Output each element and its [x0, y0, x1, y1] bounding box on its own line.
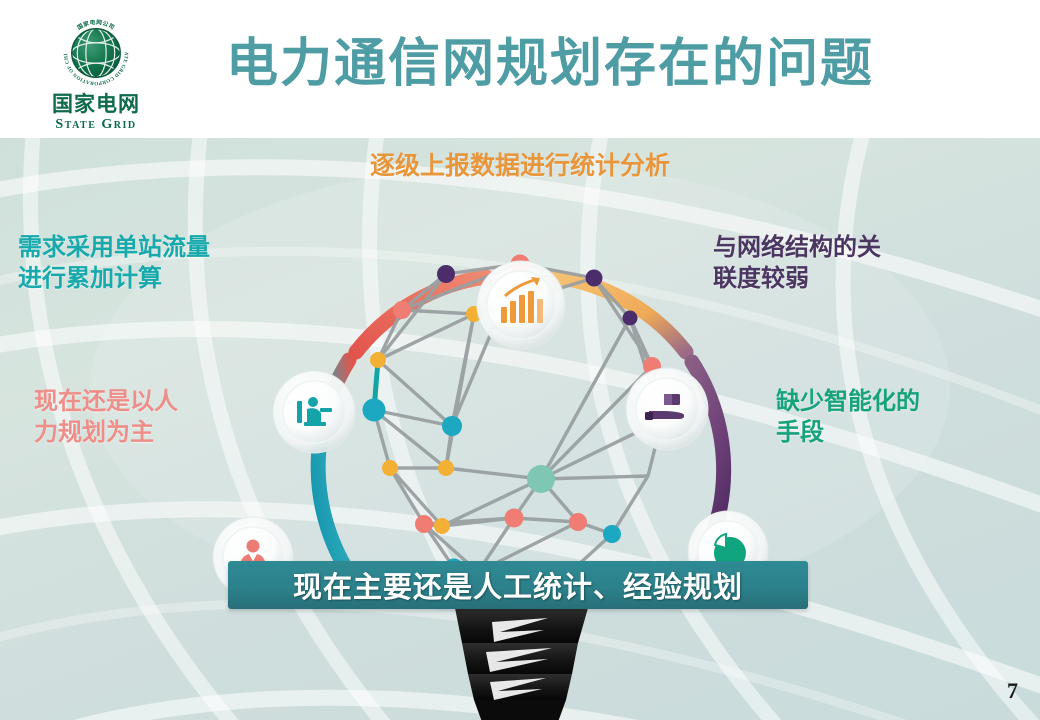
conclusion-banner-text: 现在主要还是人工统计、经验规划: [293, 564, 743, 606]
callout-left-top: 需求采用单站流量 进行累加计算: [18, 232, 278, 293]
slide-canvas: 国家电网公司 STATE GRID CORPORATION OF CHINA 国…: [0, 0, 1040, 720]
callout-left-bottom: 现在还是以人 力规划为主: [34, 386, 264, 447]
page-title: 电力通信网规划存在的问题: [0, 36, 1040, 93]
logo-name-en: State Grid: [55, 118, 136, 132]
badge-hand-holding-box: [626, 368, 708, 450]
bulb-screw-base: [455, 608, 588, 720]
logo-name-cn: 国家电网: [52, 94, 140, 115]
slide-header: 国家电网公司 STATE GRID CORPORATION OF CHINA 国…: [0, 0, 1040, 138]
conclusion-banner: 现在主要还是人工统计、经验规划: [228, 561, 808, 609]
page-number: 7: [1007, 678, 1018, 704]
badge-bar-chart: [477, 261, 565, 349]
callout-top: 逐级上报数据进行统计分析: [0, 150, 1040, 182]
callout-right-top: 与网络结构的关 联度较弱: [713, 232, 963, 293]
badge-person-at-desk: [273, 371, 355, 453]
callout-right-bottom: 缺少智能化的 手段: [776, 386, 1026, 447]
